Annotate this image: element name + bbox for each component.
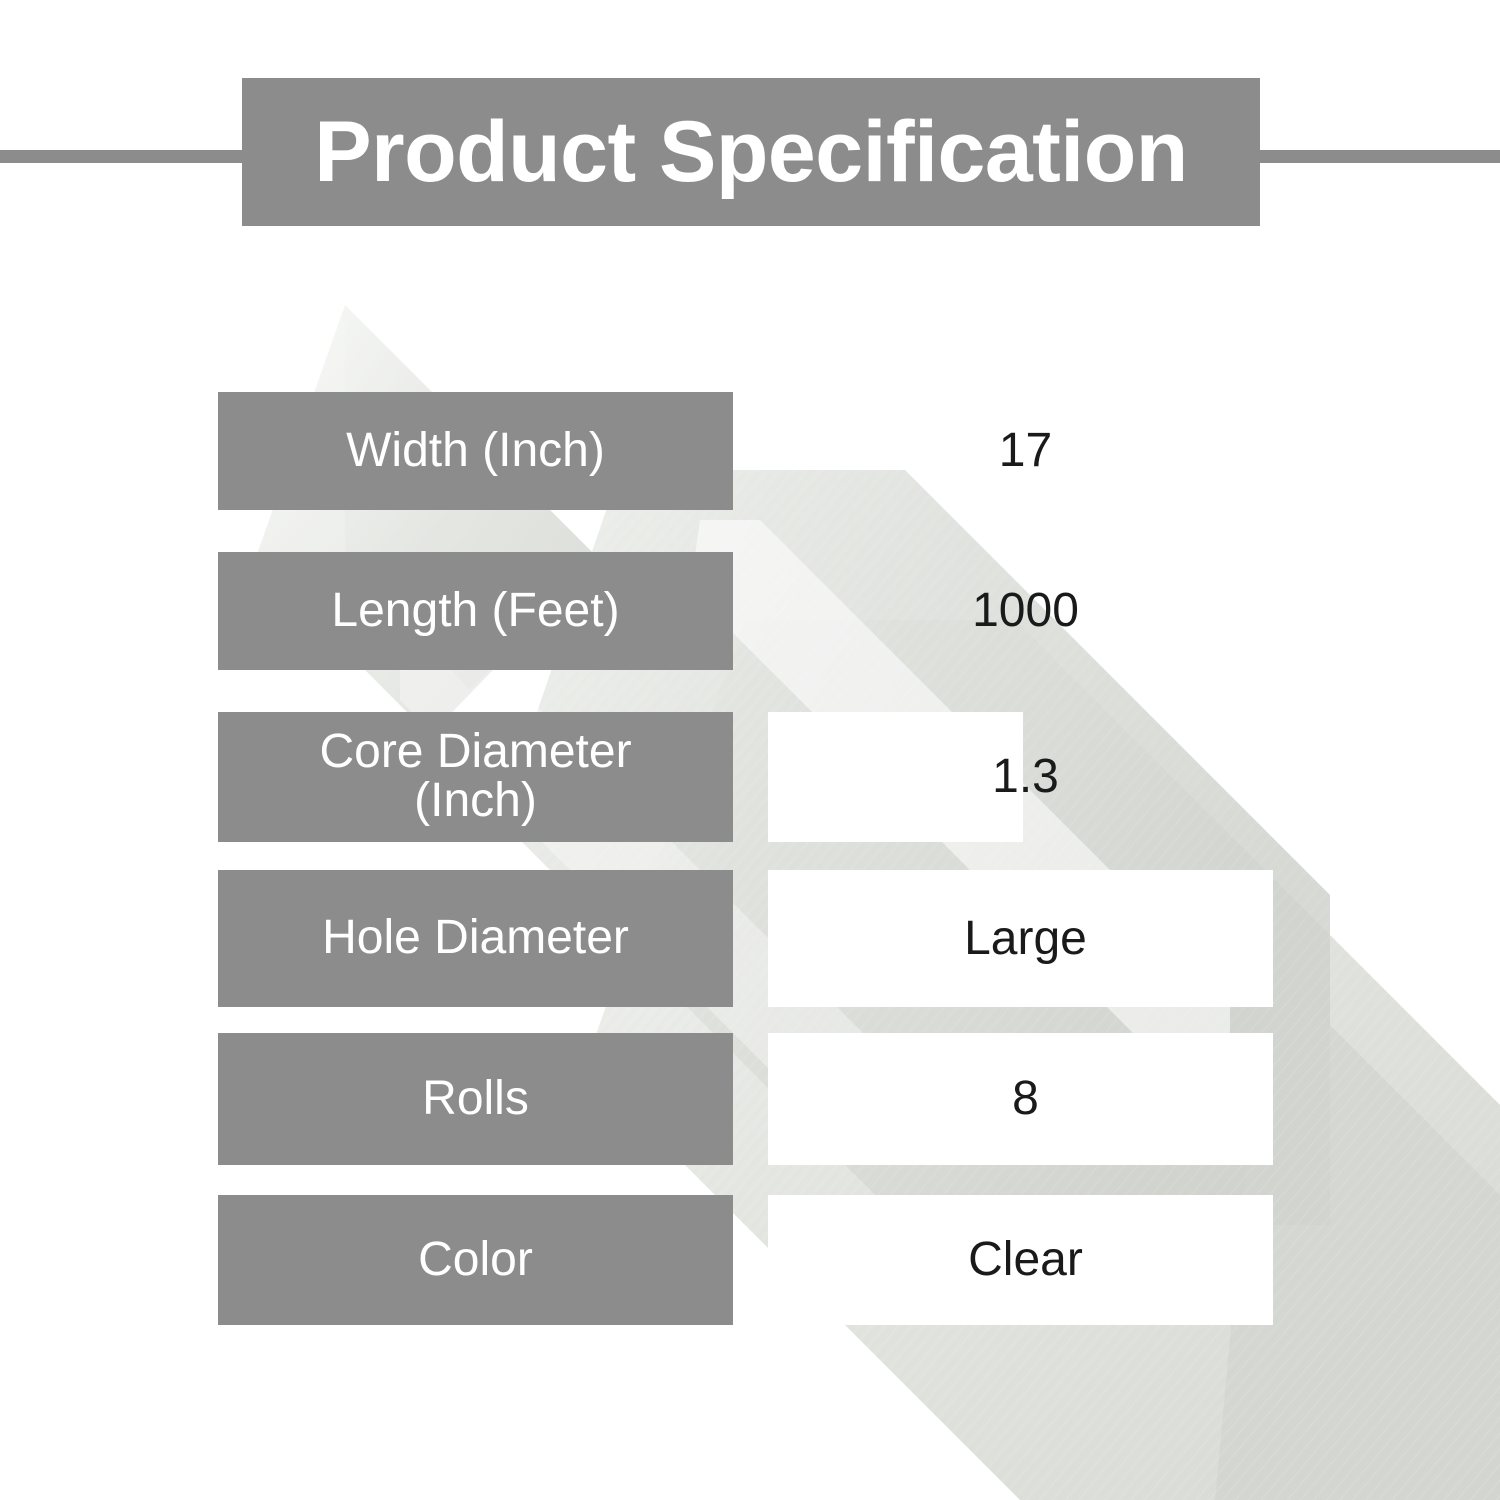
- spec-label-text: Hole Diameter: [322, 914, 629, 963]
- title-banner: Product Specification: [242, 78, 1260, 226]
- spec-label-text: Length (Feet): [331, 587, 619, 636]
- spec-value-rolls: 8: [768, 1033, 1283, 1165]
- spec-label-text: Core Diameter: [319, 728, 631, 777]
- product-specification-card: Product Specification Width (Inch) 17 Le…: [0, 0, 1500, 1500]
- header: Product Specification: [0, 78, 1500, 228]
- spec-label-color: Color: [218, 1195, 733, 1325]
- spec-value-hole-diameter: Large: [768, 870, 1283, 1007]
- spec-value-color: Clear: [768, 1195, 1283, 1325]
- header-rule-right: [1258, 150, 1500, 163]
- spec-label-length: Length (Feet): [218, 552, 733, 670]
- spec-label-core-diameter: Core Diameter (Inch): [218, 712, 733, 842]
- spec-value-text: 1000: [972, 587, 1079, 635]
- spec-label-text: Rolls: [422, 1075, 529, 1124]
- spec-value-text: 8: [1012, 1075, 1039, 1123]
- spec-label-text: Width (Inch): [346, 427, 605, 476]
- spec-label-width: Width (Inch): [218, 392, 733, 510]
- spec-value-text: Clear: [968, 1236, 1083, 1284]
- spec-value-length: 1000: [768, 552, 1283, 670]
- page-title: Product Specification: [314, 109, 1188, 195]
- spec-label-text: Color: [418, 1236, 533, 1285]
- spec-label-text-line2: (Inch): [414, 777, 537, 826]
- header-rule-left: [0, 150, 243, 163]
- spec-value-text: 17: [999, 427, 1052, 475]
- spec-label-rolls: Rolls: [218, 1033, 733, 1165]
- spec-value-text: Large: [964, 915, 1087, 963]
- spec-value-core-diameter: 1.3: [768, 712, 1283, 842]
- spec-label-hole-diameter: Hole Diameter: [218, 870, 733, 1007]
- spec-value-text: 1.3: [992, 753, 1059, 801]
- spec-value-width: 17: [768, 392, 1283, 510]
